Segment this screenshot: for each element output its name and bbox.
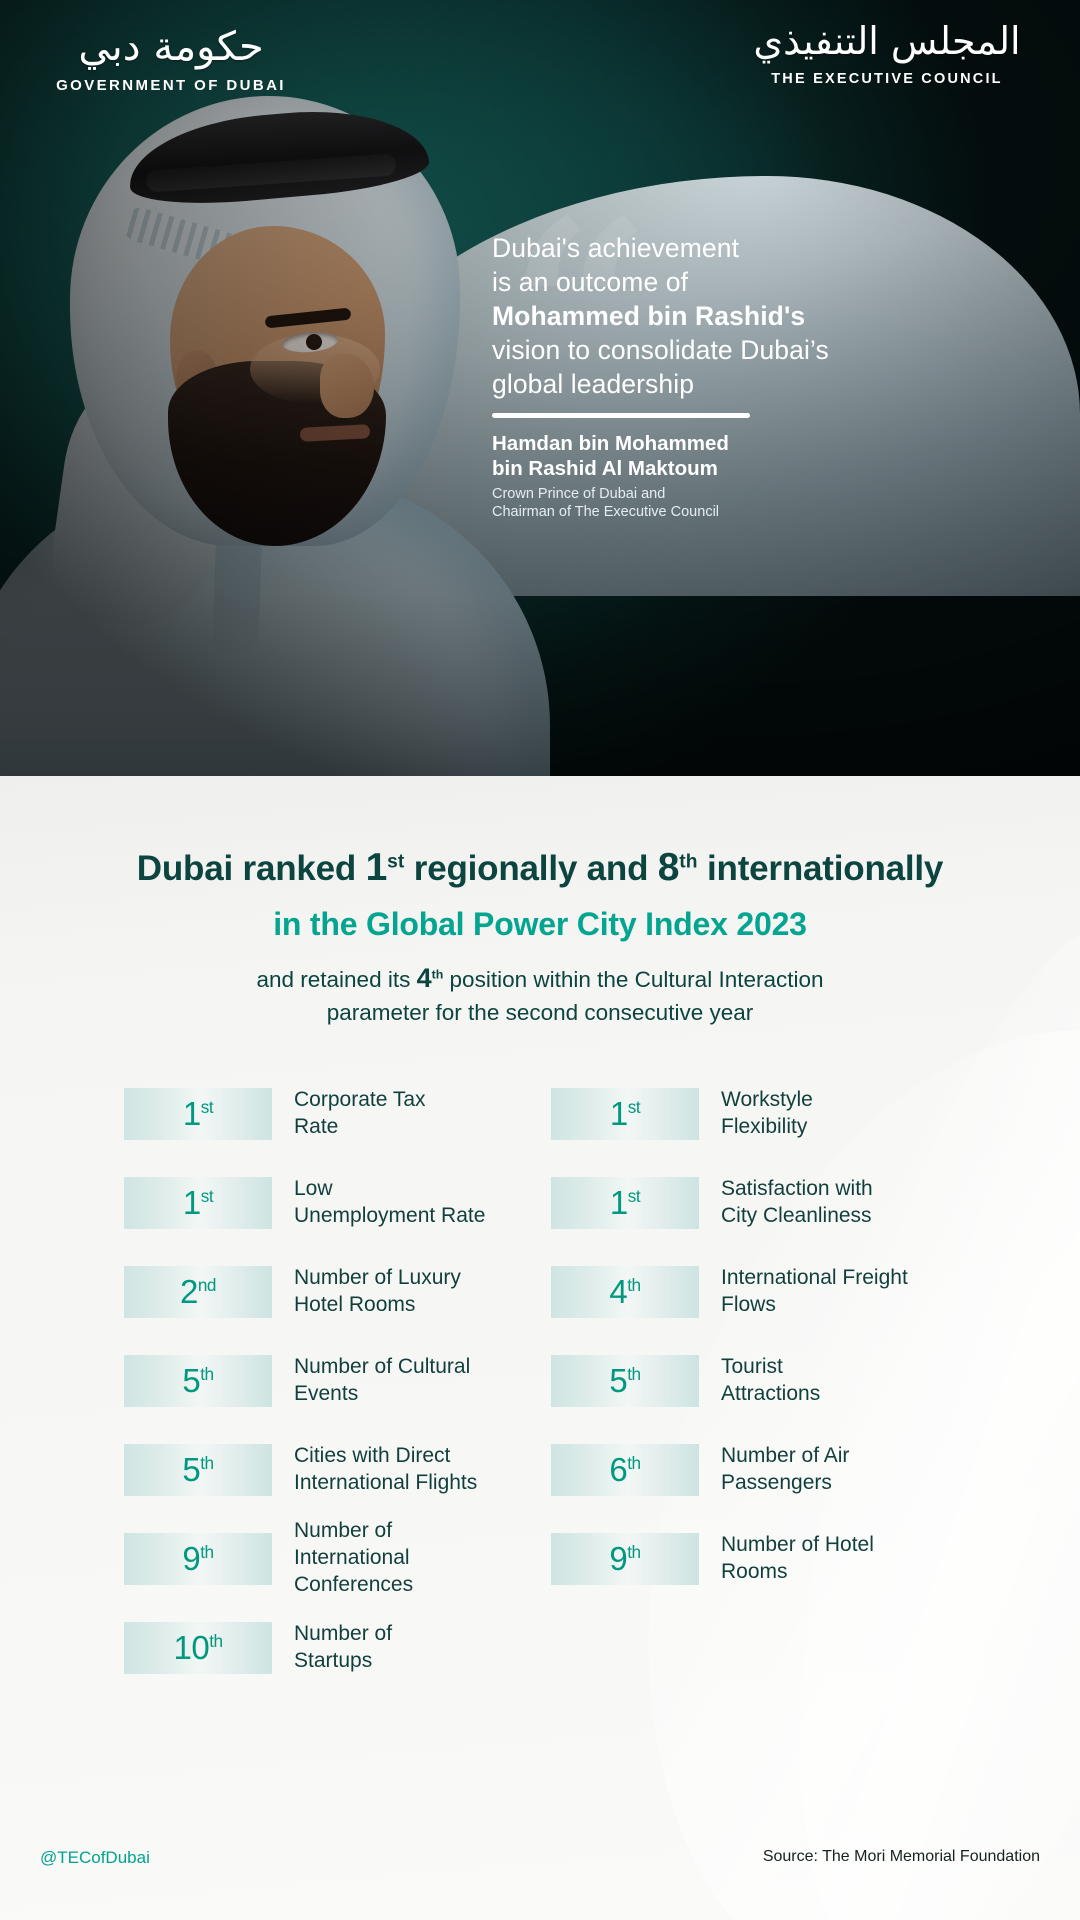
ranking-row: 4thInternational FreightFlows: [551, 1247, 956, 1336]
rank-label-line: International Freight: [721, 1265, 908, 1292]
rank-badge: 10th: [124, 1622, 272, 1674]
subtext-b: position within the Cultural Interaction: [443, 967, 823, 992]
government-of-dubai-arabic-calligraphy: حكومة دبي: [36, 22, 306, 72]
source-attribution: Source: The Mori Memorial Foundation: [763, 1848, 1040, 1866]
quote-line-5: global leadership: [492, 368, 872, 402]
rank-label-line: Number of Hotel: [721, 1532, 874, 1559]
headline-text-c: internationally: [697, 849, 943, 888]
rank-value: 1st: [610, 1186, 640, 1219]
rank-badge: 1st: [124, 1177, 272, 1229]
ranking-row: 9thNumber of HotelRooms: [551, 1514, 956, 1603]
attribution-role-line-1: Crown Prince of Dubai and: [492, 485, 872, 504]
rank-suffix: th: [209, 1631, 222, 1651]
rank-suffix: th: [627, 1453, 640, 1473]
rank-suffix: th: [627, 1364, 640, 1384]
rank-label: Number of LuxuryHotel Rooms: [294, 1265, 461, 1319]
footer: @TECofDubai Source: The Mori Memorial Fo…: [0, 1830, 1080, 1920]
ranking-row: 2ndNumber of LuxuryHotel Rooms: [124, 1247, 529, 1336]
rank-label-line: Flexibility: [721, 1114, 813, 1141]
rank-suffix: st: [201, 1186, 213, 1206]
ranking-row: 10thNumber ofStartups: [124, 1603, 529, 1692]
rank-label: Number of CulturalEvents: [294, 1354, 470, 1408]
executive-council-logo: المجلس التنفيذي THE EXECUTIVE COUNCIL: [722, 18, 1052, 87]
rank-value: 5th: [182, 1453, 213, 1486]
headline-rank-2-suffix: th: [679, 851, 697, 872]
rank-label-line: Satisfaction with: [721, 1176, 873, 1203]
quote-line-3-bold: Mohammed bin Rashid's: [492, 301, 805, 331]
rank-label: LowUnemployment Rate: [294, 1176, 485, 1230]
rank-label-line: City Cleanliness: [721, 1203, 873, 1230]
executive-council-arabic-calligraphy: المجلس التنفيذي: [722, 18, 1052, 66]
ranking-row: 5thCities with DirectInternational Fligh…: [124, 1425, 529, 1514]
quote-line-4: vision to consolidate Dubai’s: [492, 334, 872, 368]
attribution-name-line-1: Hamdan bin Mohammed: [492, 431, 872, 456]
subtext-rank: 4: [417, 963, 432, 993]
quote-text: Dubai's achievement is an outcome of Moh…: [492, 232, 872, 402]
portrait-image: [0, 76, 560, 776]
ranking-row: 9thNumber ofInternationalConferences: [124, 1514, 529, 1603]
rank-badge: 9th: [124, 1533, 272, 1585]
rank-label-line: Startups: [294, 1648, 392, 1675]
headline-subtext: and retained its 4th position within the…: [0, 959, 1080, 1029]
rankings-column-right: 1stWorkstyleFlexibility1stSatisfaction w…: [551, 1069, 956, 1692]
social-handle[interactable]: @TECofDubai: [40, 1848, 150, 1868]
rank-value: 1st: [183, 1186, 213, 1219]
headline-rank-2: 8: [658, 846, 680, 889]
rank-label: Number ofInternationalConferences: [294, 1518, 413, 1599]
rank-label-line: Attractions: [721, 1381, 820, 1408]
subtext-rank-suffix: th: [432, 968, 444, 982]
rank-value: 9th: [182, 1542, 213, 1575]
rank-badge: 1st: [551, 1088, 699, 1140]
headline-index-name: in the Global Power City Index 2023: [0, 906, 1080, 943]
rank-label-line: Tourist: [721, 1354, 820, 1381]
rank-label-line: Conferences: [294, 1572, 413, 1599]
content-section: Dubai ranked 1st regionally and 8th inte…: [0, 776, 1080, 1920]
rank-badge: 5th: [124, 1444, 272, 1496]
rank-suffix: th: [627, 1542, 640, 1562]
rank-suffix: th: [627, 1275, 640, 1295]
subtext-a: and retained its: [256, 967, 416, 992]
headline-rank-1-suffix: st: [387, 851, 404, 872]
rank-label: WorkstyleFlexibility: [721, 1087, 813, 1141]
rank-label-line: Passengers: [721, 1470, 849, 1497]
ranking-row: 1stLowUnemployment Rate: [124, 1158, 529, 1247]
rank-label-line: Number of Cultural: [294, 1354, 470, 1381]
rank-suffix: th: [200, 1453, 213, 1473]
government-of-dubai-label: GOVERNMENT OF DUBAI: [36, 77, 306, 94]
rank-label: Number of AirPassengers: [721, 1443, 849, 1497]
subtext-c: parameter for the second consecutive yea…: [327, 1000, 753, 1025]
rank-label: Cities with DirectInternational Flights: [294, 1443, 477, 1497]
attribution-name: Hamdan bin Mohammed bin Rashid Al Maktou…: [492, 431, 872, 481]
rank-label-line: Low: [294, 1176, 485, 1203]
rank-suffix: st: [628, 1186, 640, 1206]
attribution-name-line-2: bin Rashid Al Maktoum: [492, 456, 872, 481]
quote-line-2: is an outcome of: [492, 266, 872, 300]
quote-line-1: Dubai's achievement: [492, 232, 872, 266]
attribution-role-line-2: Chairman of The Executive Council: [492, 503, 872, 522]
rank-value: 1st: [610, 1097, 640, 1130]
rank-label-line: Corporate Tax: [294, 1087, 426, 1114]
ranking-row: 5thTouristAttractions: [551, 1336, 956, 1425]
rank-label-line: Unemployment Rate: [294, 1203, 485, 1230]
rank-value: 5th: [182, 1364, 213, 1397]
rank-label-line: Hotel Rooms: [294, 1292, 461, 1319]
rank-label-line: International: [294, 1545, 413, 1572]
rank-badge: 5th: [124, 1355, 272, 1407]
ranking-row: 1stCorporate TaxRate: [124, 1069, 529, 1158]
rank-label-line: Number of: [294, 1621, 392, 1648]
rank-badge: 2nd: [124, 1266, 272, 1318]
rank-suffix: th: [200, 1542, 213, 1562]
headline-text-a: Dubai ranked: [137, 849, 366, 888]
rank-value: 1st: [183, 1097, 213, 1130]
executive-council-label: THE EXECUTIVE COUNCIL: [722, 71, 1052, 87]
rank-value: 2nd: [180, 1275, 216, 1308]
headline-primary: Dubai ranked 1st regionally and 8th inte…: [0, 846, 1080, 890]
hero-banner: حكومة دبي GOVERNMENT OF DUBAI المجلس الت…: [0, 0, 1080, 776]
rank-value: 10th: [173, 1631, 222, 1664]
rank-badge: 1st: [551, 1177, 699, 1229]
rank-label-line: Rate: [294, 1114, 426, 1141]
rank-suffix: nd: [198, 1275, 216, 1295]
rank-label-line: Cities with Direct: [294, 1443, 477, 1470]
rank-label: Number of HotelRooms: [721, 1532, 874, 1586]
ranking-row: 5thNumber of CulturalEvents: [124, 1336, 529, 1425]
rank-label: Satisfaction withCity Cleanliness: [721, 1176, 873, 1230]
rank-label-line: Number of Luxury: [294, 1265, 461, 1292]
rank-label: Corporate TaxRate: [294, 1087, 426, 1141]
rank-label-line: Rooms: [721, 1559, 874, 1586]
rank-badge: 5th: [551, 1355, 699, 1407]
rank-badge: 1st: [124, 1088, 272, 1140]
rank-value: 5th: [609, 1364, 640, 1397]
rank-badge: 9th: [551, 1533, 699, 1585]
rank-label-line: Events: [294, 1381, 470, 1408]
rank-label-line: International Flights: [294, 1470, 477, 1497]
rank-value: 4th: [609, 1275, 640, 1308]
ranking-row: 1stWorkstyleFlexibility: [551, 1069, 956, 1158]
rank-label-line: Number of Air: [721, 1443, 849, 1470]
rank-label-line: Workstyle: [721, 1087, 813, 1114]
attribution-role: Crown Prince of Dubai and Chairman of Th…: [492, 485, 872, 522]
rank-value: 9th: [609, 1542, 640, 1575]
ranking-row: 1stSatisfaction withCity Cleanliness: [551, 1158, 956, 1247]
quote-divider: [492, 413, 750, 418]
ranking-row: 6thNumber of AirPassengers: [551, 1425, 956, 1514]
rank-badge: 6th: [551, 1444, 699, 1496]
rank-label-line: Flows: [721, 1292, 908, 1319]
rank-suffix: th: [200, 1364, 213, 1384]
rankings-grid: 1stCorporate TaxRate1stLowUnemployment R…: [0, 1069, 1080, 1692]
rank-label: International FreightFlows: [721, 1265, 908, 1319]
rank-suffix: st: [201, 1097, 213, 1117]
quote-block: “ Dubai's achievement is an outcome of M…: [492, 232, 872, 522]
headline-text-b: regionally and: [404, 849, 658, 888]
rank-label-line: Number of: [294, 1518, 413, 1545]
rank-label: Number ofStartups: [294, 1621, 392, 1675]
rank-value: 6th: [609, 1453, 640, 1486]
headline-rank-1: 1: [366, 846, 388, 889]
rank-label: TouristAttractions: [721, 1354, 820, 1408]
government-of-dubai-logo: حكومة دبي GOVERNMENT OF DUBAI: [36, 22, 306, 94]
headline-block: Dubai ranked 1st regionally and 8th inte…: [0, 776, 1080, 1029]
rank-suffix: st: [628, 1097, 640, 1117]
rank-badge: 4th: [551, 1266, 699, 1318]
rankings-column-left: 1stCorporate TaxRate1stLowUnemployment R…: [124, 1069, 529, 1692]
